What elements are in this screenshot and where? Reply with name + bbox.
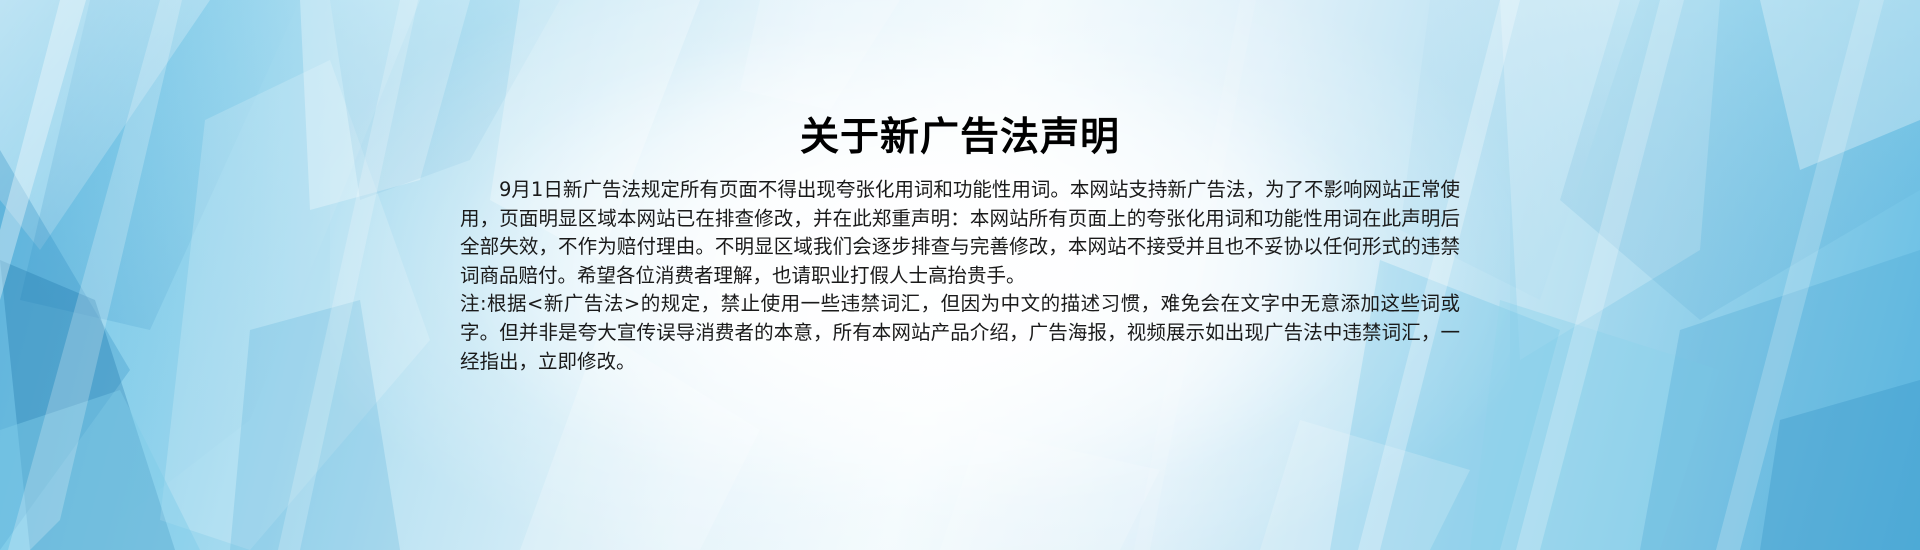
page-title: 关于新广告法声明 [0, 114, 1920, 162]
announcement-paragraph-2: 注:根据<新广告法>的规定，禁止使用一些违禁词汇，但因为中文的描述习惯，难免会在… [460, 290, 1460, 376]
announcement-body: 9月1日新广告法规定所有页面不得出现夸张化用词和功能性用词。本网站支持新广告法，… [460, 176, 1460, 376]
announcement-paragraph-1: 9月1日新广告法规定所有页面不得出现夸张化用词和功能性用词。本网站支持新广告法，… [460, 176, 1460, 290]
announcement-content: 关于新广告法声明 9月1日新广告法规定所有页面不得出现夸张化用词和功能性用词。本… [0, 0, 1920, 550]
announcement-banner: 关于新广告法声明 9月1日新广告法规定所有页面不得出现夸张化用词和功能性用词。本… [0, 0, 1920, 550]
